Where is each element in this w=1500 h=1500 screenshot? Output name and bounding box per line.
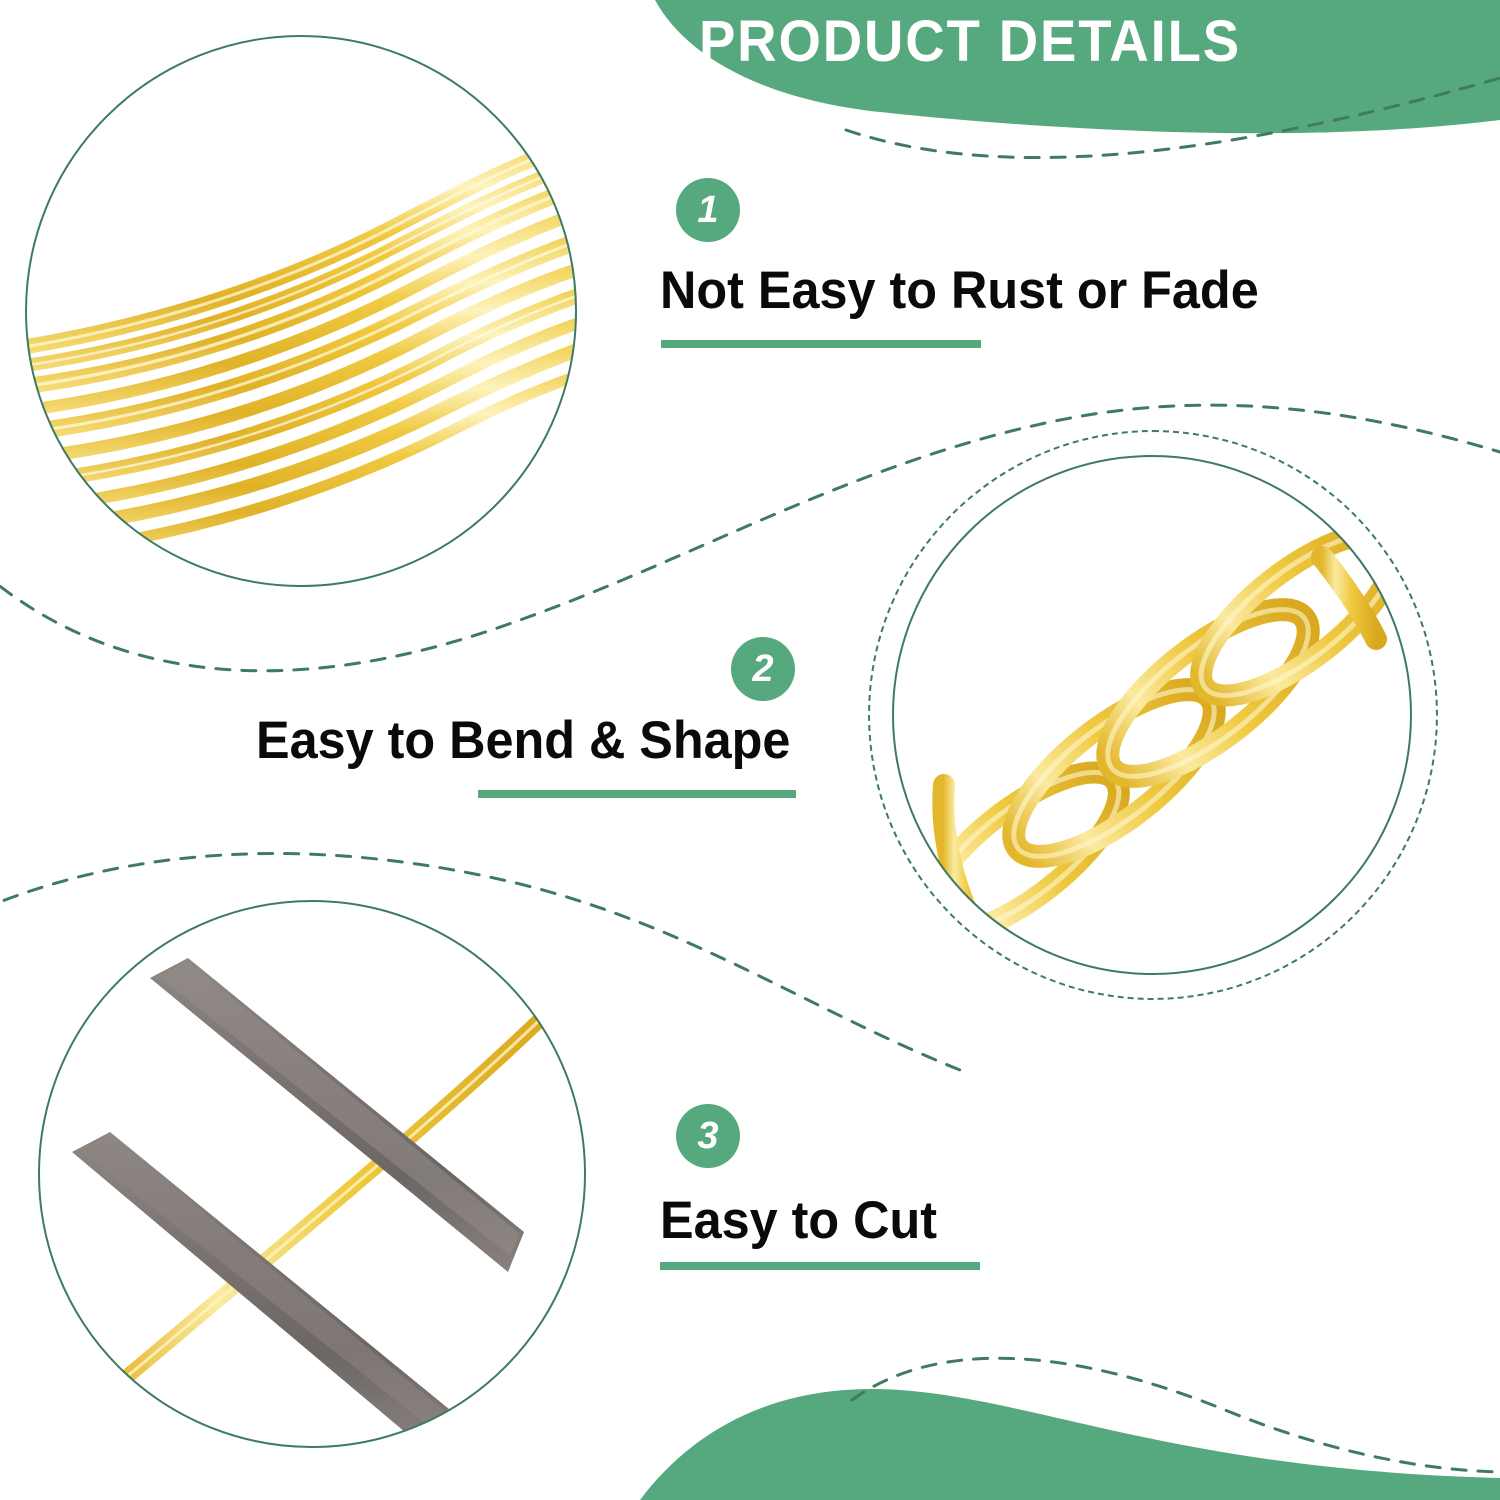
- feature-badge-2: 2: [731, 637, 795, 701]
- wire-coil-illustration: [25, 35, 577, 587]
- feature-title-3: Easy to Cut: [660, 1192, 937, 1250]
- feature-title-1: Not Easy to Rust or Fade: [660, 262, 1259, 320]
- photo-pliers-cutting-wire: [38, 900, 586, 1448]
- photo-golden-wire-spiral: [892, 455, 1412, 975]
- wire-spiral-illustration: [892, 455, 1412, 975]
- page-title: PRODUCT DETAILS: [660, 8, 1280, 75]
- footer-wave-shape: [640, 1389, 1500, 1500]
- photo-golden-wire-coil: [25, 35, 577, 587]
- feature-underline-1: [661, 340, 981, 348]
- feature-underline-3: [660, 1262, 980, 1270]
- product-details-infographic: PRODUCT DETAILS 1 Not Easy to Rust or Fa…: [0, 0, 1500, 1500]
- pliers-cutting-illustration: [38, 900, 586, 1448]
- feature-badge-3: 3: [676, 1104, 740, 1168]
- feature-badge-1: 1: [676, 178, 740, 242]
- feature-underline-2: [478, 790, 796, 798]
- feature-title-2: Easy to Bend & Shape: [256, 712, 790, 770]
